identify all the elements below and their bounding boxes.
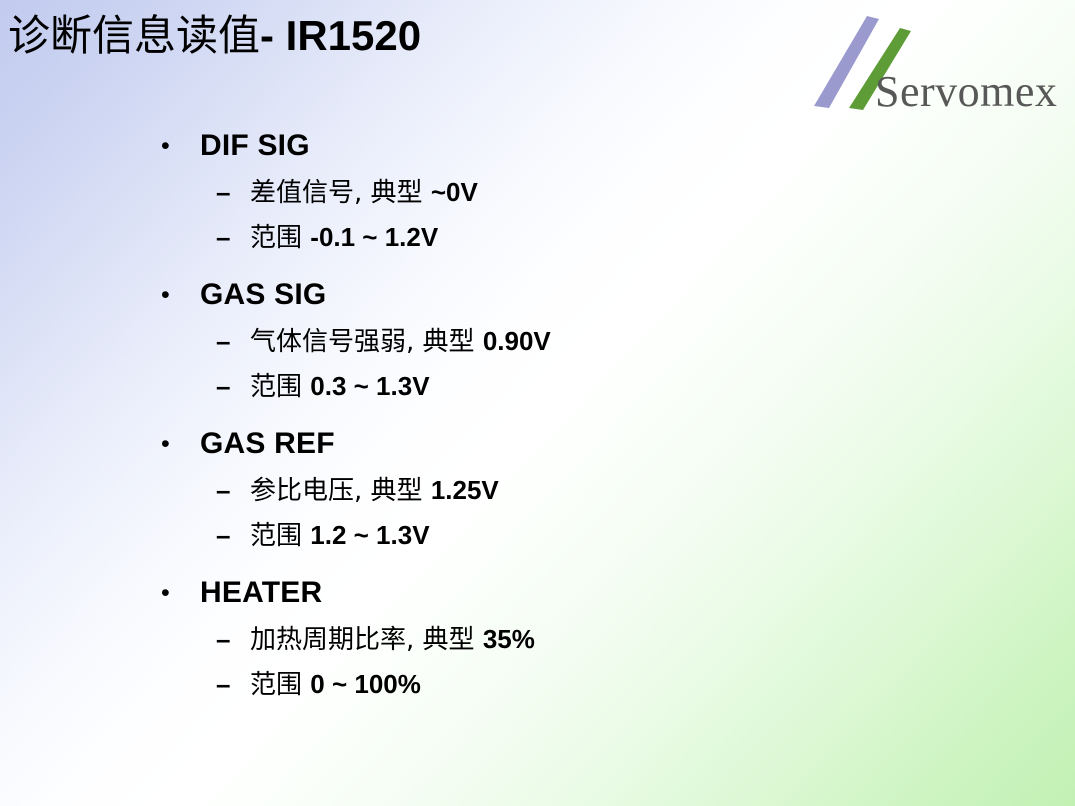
slide-title-block: 诊断信息读值- IR1520	[8, 6, 808, 66]
bullet-group: • GAS SIG – 气体信号强弱, 典型 0.90V – 范围 0.3 ~ …	[0, 275, 1075, 410]
sub-text-cjk: 气体信号强弱,	[250, 327, 414, 357]
sub-text-cjk: 差值信号,	[250, 178, 362, 208]
bullet-level2-line: 差值信号, 典型 ~0V	[250, 171, 478, 214]
bullet-group: • GAS REF – 参比电压, 典型 1.25V – 范围 1.2 ~ 1.…	[0, 424, 1075, 559]
bullet-level2-line: 参比电压, 典型 1.25V	[250, 469, 499, 512]
bullet-level2-line: 范围 0 ~ 100%	[250, 663, 421, 706]
bullet-level2: – 范围 1.2 ~ 1.3V	[0, 514, 1075, 559]
sub-text-cjk: 范围	[250, 670, 302, 700]
bullet-content: • DIF SIG – 差值信号, 典型 ~0V – 范围 -0.1 ~ 1.2…	[0, 126, 1075, 722]
bullet-level2: – 范围 0 ~ 100%	[0, 663, 1075, 708]
dash-marker-icon: –	[216, 663, 250, 705]
page-title-cjk: 诊断信息读值	[8, 11, 260, 60]
sub-text-cjk: 范围	[250, 223, 302, 253]
bullet-level2: – 范围 -0.1 ~ 1.2V	[0, 216, 1075, 261]
bullet-level1: • GAS SIG	[0, 275, 1075, 320]
bullet-level2: – 参比电压, 典型 1.25V	[0, 469, 1075, 514]
bullet-level1-label: GAS REF	[200, 424, 335, 464]
bullet-level2-line: 气体信号强弱, 典型 0.90V	[250, 320, 551, 363]
bullet-dot-icon: •	[158, 275, 200, 315]
dash-marker-icon: –	[216, 216, 250, 258]
bullet-dot-icon: •	[158, 424, 200, 464]
dash-marker-icon: –	[216, 514, 250, 556]
bullet-level2: – 差值信号, 典型 ~0V	[0, 171, 1075, 216]
sub-text-cjk: 范围	[250, 372, 302, 402]
servomex-wordmark: Servomex	[875, 66, 1057, 117]
sub-text-value: 0.3 ~ 1.3V	[310, 371, 429, 401]
bullet-level1-label: HEATER	[200, 573, 322, 613]
bullet-level2-line: 范围 0.3 ~ 1.3V	[250, 365, 430, 408]
dash-marker-icon: –	[216, 469, 250, 511]
bullet-dot-icon: •	[158, 573, 200, 613]
sub-text-value: ~0V	[431, 177, 478, 207]
bullet-level2: – 加热周期比率, 典型 35%	[0, 618, 1075, 663]
sub-text-value: 1.2 ~ 1.3V	[310, 520, 429, 550]
sub-text-value: 35%	[483, 624, 535, 654]
dash-marker-icon: –	[216, 365, 250, 407]
bullet-level2-line: 加热周期比率, 典型 35%	[250, 618, 535, 661]
bullet-group: • DIF SIG – 差值信号, 典型 ~0V – 范围 -0.1 ~ 1.2…	[0, 126, 1075, 261]
bullet-level1: • DIF SIG	[0, 126, 1075, 171]
servomex-logo: Servomex	[791, 14, 1073, 120]
bullet-level2: – 范围 0.3 ~ 1.3V	[0, 365, 1075, 410]
sub-text-value: 1.25V	[431, 475, 499, 505]
bullet-level2-line: 范围 1.2 ~ 1.3V	[250, 514, 430, 557]
bullet-level2-line: 范围 -0.1 ~ 1.2V	[250, 216, 438, 259]
dash-marker-icon: –	[216, 320, 250, 362]
sub-text-cjk: 加热周期比率,	[250, 625, 414, 655]
bullet-level1: • GAS REF	[0, 424, 1075, 469]
sub-text-cjk2: 典型	[371, 178, 423, 208]
page-title-model: - IR1520	[260, 12, 421, 59]
bullet-level1: • HEATER	[0, 573, 1075, 618]
sub-text-value: 0.90V	[483, 326, 551, 356]
bullet-level2: – 气体信号强弱, 典型 0.90V	[0, 320, 1075, 365]
bullet-level1-label: DIF SIG	[200, 126, 310, 166]
bullet-dot-icon: •	[158, 126, 200, 166]
slide-canvas: 诊断信息读值- IR1520 Servomex • DIF SIG – 差值信号…	[0, 0, 1075, 806]
sub-text-cjk2: 典型	[423, 625, 475, 655]
page-title: 诊断信息读值- IR1520	[8, 14, 421, 58]
sub-text-cjk2: 典型	[423, 327, 475, 357]
bullet-level1-label: GAS SIG	[200, 275, 326, 315]
bullet-group: • HEATER – 加热周期比率, 典型 35% – 范围 0 ~ 100%	[0, 573, 1075, 708]
sub-text-cjk: 范围	[250, 521, 302, 551]
dash-marker-icon: –	[216, 171, 250, 213]
sub-text-cjk: 参比电压,	[250, 476, 362, 506]
sub-text-value: -0.1 ~ 1.2V	[310, 222, 438, 252]
sub-text-value: 0 ~ 100%	[310, 669, 421, 699]
sub-text-cjk2: 典型	[371, 476, 423, 506]
dash-marker-icon: –	[216, 618, 250, 660]
